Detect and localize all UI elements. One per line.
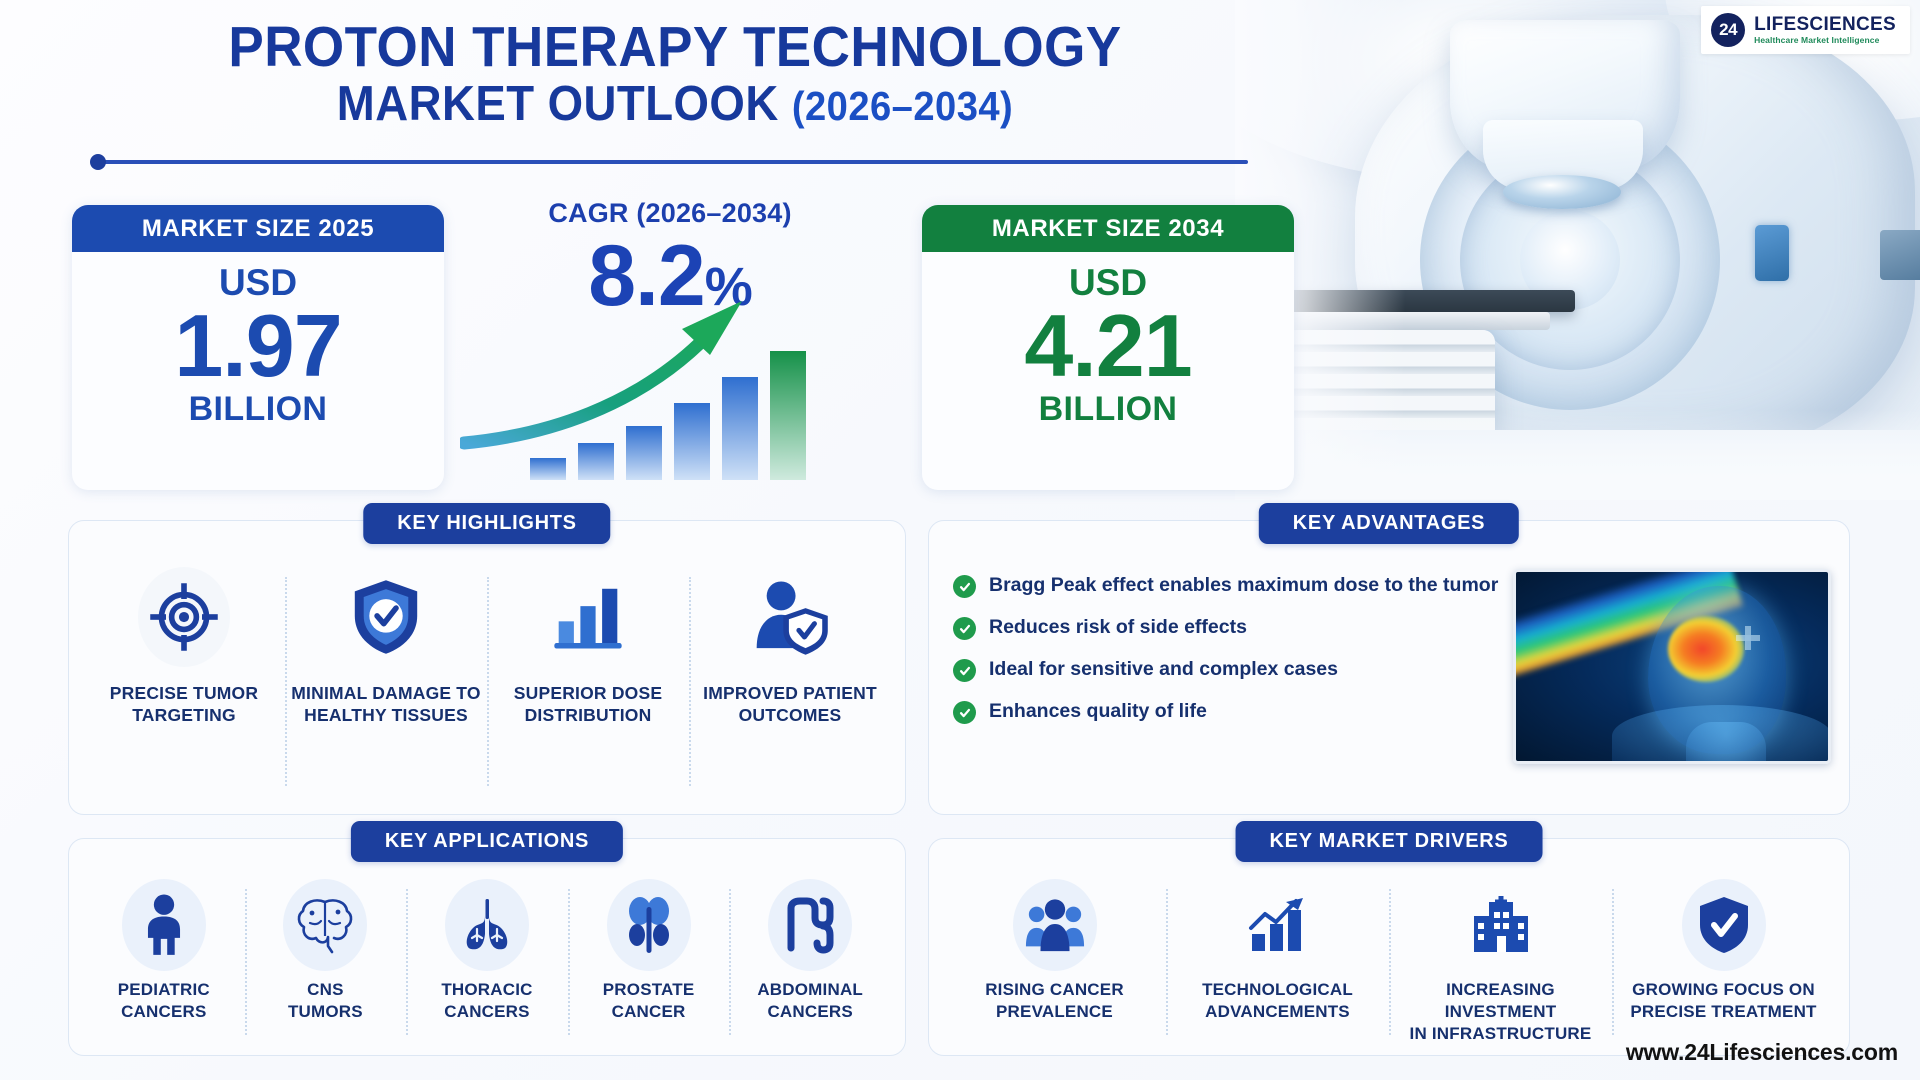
market-size-2034-card: MARKET SIZE 2034 USD 4.21 BILLION	[922, 205, 1294, 490]
child-icon	[138, 894, 190, 956]
people-group-icon	[1024, 897, 1086, 953]
logo-text: LIFESCIENCES Healthcare Market Intellige…	[1754, 15, 1896, 45]
cagr-bar-1	[530, 458, 566, 480]
title-line-2-years: (2026–2034)	[792, 83, 1013, 129]
driver-item-technological-advancements[interactable]: TECHNOLOGICALADVANCEMENTS	[1166, 879, 1389, 1045]
highlight-label: PRECISE TUMORTARGETING	[110, 682, 258, 727]
advantage-item[interactable]: Reduces risk of side effects	[953, 615, 1499, 640]
application-label: CNSTUMORS	[288, 979, 363, 1023]
driver-label: RISING CANCERPREVALENCE	[985, 979, 1124, 1023]
market-size-2025-body: USD 1.97 BILLION	[72, 252, 444, 430]
highlight-label: MINIMAL DAMAGE TOHEALTHY TISSUES	[291, 682, 480, 727]
title-line-2-main: MARKET OUTLOOK	[337, 77, 792, 131]
key-advantages-body: Bragg Peak effect enables maximum dose t…	[929, 521, 1849, 814]
key-highlights-grid: PRECISE TUMORTARGETING MINIMAL DAMAGE TO…	[69, 521, 905, 814]
cagr-bar-3	[626, 426, 662, 480]
wall-monitor	[1880, 230, 1920, 280]
advantage-text: Reduces risk of side effects	[989, 615, 1247, 640]
icon-backdrop	[768, 879, 852, 971]
highlight-item-superior-dose-distribution[interactable]: SUPERIOR DOSEDISTRIBUTION	[487, 563, 689, 800]
market-size-2034-unit: BILLION	[1039, 389, 1178, 430]
cagr-block: CAGR (2026–2034) 8.2%	[460, 198, 880, 490]
crosshair-icon	[1734, 624, 1762, 652]
logo-mark-icon: 24	[1711, 13, 1745, 47]
icon-slot	[445, 879, 529, 971]
icon-slot	[1013, 879, 1097, 971]
cagr-bar-2	[578, 443, 614, 480]
advantage-item[interactable]: Bragg Peak effect enables maximum dose t…	[953, 573, 1499, 598]
key-market-drivers-panel: KEY MARKET DRIVERS RISI	[928, 838, 1850, 1056]
colon-icon	[781, 896, 839, 954]
check-circle-icon	[953, 575, 976, 598]
application-label: PEDIATRICCANCERS	[118, 979, 210, 1023]
icon-slot	[283, 879, 367, 971]
market-size-2025-card: MARKET SIZE 2025 USD 1.97 BILLION	[72, 205, 444, 490]
market-size-2025-heading: MARKET SIZE 2025	[72, 205, 444, 252]
icon-slot	[607, 879, 691, 971]
cagr-label: CAGR (2026–2034)	[460, 198, 880, 229]
target-icon	[148, 581, 220, 653]
shoulders-silhouette	[1612, 705, 1831, 764]
driver-item-rising-cancer-prevalence[interactable]: RISING CANCERPREVALENCE	[943, 879, 1166, 1045]
application-item-pediatric-cancers[interactable]: PEDIATRICCANCERS	[83, 879, 245, 1045]
key-advantages-list: Bragg Peak effect enables maximum dose t…	[953, 567, 1499, 798]
market-size-2025-value: 1.97	[174, 303, 341, 389]
advantage-item[interactable]: Enhances quality of life	[953, 699, 1499, 724]
icon-backdrop	[138, 567, 230, 667]
icon-backdrop	[1682, 879, 1766, 971]
application-item-prostate-cancer[interactable]: PROSTATECANCER	[568, 879, 730, 1045]
icon-backdrop	[1013, 879, 1097, 971]
icon-backdrop	[607, 879, 691, 971]
growth-chart-icon	[1246, 896, 1310, 954]
driver-label: INCREASING INVESTMENTIN INFRASTRUCTURE	[1395, 979, 1606, 1044]
highlight-item-improved-patient-outcomes[interactable]: IMPROVED PATIENTOUTCOMES	[689, 563, 891, 800]
advantage-text: Ideal for sensitive and complex cases	[989, 657, 1338, 682]
market-size-2034-heading: MARKET SIZE 2034	[922, 205, 1294, 252]
key-highlights-title: KEY HIGHLIGHTS	[363, 503, 610, 544]
icon-slot	[122, 879, 206, 971]
key-applications-grid: PEDIATRICCANCERS	[69, 839, 905, 1055]
brain-icon	[295, 896, 355, 954]
shield-check-icon	[1697, 895, 1751, 955]
application-label: PROSTATECANCER	[603, 979, 695, 1023]
lungs-icon	[457, 896, 517, 954]
key-highlights-panel: KEY HIGHLIGHTS	[68, 520, 906, 815]
icon-slot	[750, 563, 830, 671]
title-line-1: PROTON THERAPY TECHNOLOGY	[154, 18, 1196, 77]
driver-label: GROWING FOCUS ONPRECISE TREATMENT	[1630, 979, 1816, 1023]
key-advantages-title: KEY ADVANTAGES	[1259, 503, 1519, 544]
driver-item-increasing-investment[interactable]: INCREASING INVESTMENTIN INFRASTRUCTURE	[1389, 879, 1612, 1045]
icon-slot	[768, 879, 852, 971]
icon-slot	[1682, 879, 1766, 971]
icon-backdrop	[1459, 879, 1543, 971]
shield-check-icon	[350, 578, 422, 656]
advantage-text: Enhances quality of life	[989, 699, 1207, 724]
brand-logo[interactable]: 24 LIFESCIENCES Healthcare Market Intell…	[1701, 6, 1910, 54]
advantage-text: Bragg Peak effect enables maximum dose t…	[989, 573, 1498, 598]
key-applications-title: KEY APPLICATIONS	[351, 821, 623, 862]
advantage-item[interactable]: Ideal for sensitive and complex cases	[953, 657, 1499, 682]
proton-beam-head-illustration	[1513, 569, 1831, 764]
prostate-icon	[622, 895, 676, 955]
title-line-2: MARKET OUTLOOK (2026–2034)	[154, 77, 1196, 132]
icon-backdrop	[283, 879, 367, 971]
page-title: PROTON THERAPY TECHNOLOGY MARKET OUTLOOK…	[115, 18, 1235, 132]
icon-backdrop	[122, 879, 206, 971]
title-divider	[98, 160, 1248, 164]
application-label: THORACICCANCERS	[441, 979, 532, 1023]
patient-shield-icon	[750, 579, 830, 655]
icon-slot	[1459, 879, 1543, 971]
footer-website-url[interactable]: www.24Lifesciences.com	[1626, 1039, 1898, 1066]
proton-therapy-machine-photo	[1235, 0, 1920, 500]
tumor-dose-hotspot	[1668, 616, 1744, 682]
cagr-bar-6	[770, 351, 806, 480]
market-size-2025-unit: BILLION	[189, 389, 328, 430]
icon-backdrop	[1236, 879, 1320, 971]
application-item-abdominal-cancers[interactable]: ABDOMINALCANCERS	[729, 879, 891, 1045]
key-market-drivers-grid: RISING CANCERPREVALENCE TECHNOLOGICA	[929, 839, 1849, 1055]
cagr-bar-5	[722, 377, 758, 480]
key-market-drivers-title: KEY MARKET DRIVERS	[1236, 821, 1543, 862]
highlight-item-minimal-damage[interactable]: MINIMAL DAMAGE TOHEALTHY TISSUES	[285, 563, 487, 800]
icon-slot	[138, 563, 230, 671]
hospital-icon	[1470, 896, 1532, 954]
icon-backdrop	[445, 879, 529, 971]
gantry-control-screen	[1755, 225, 1789, 281]
application-item-cns-tumors[interactable]: CNSTUMORS	[245, 879, 407, 1045]
driver-label: TECHNOLOGICALADVANCEMENTS	[1202, 979, 1353, 1023]
logo-tagline: Healthcare Market Intelligence	[1754, 36, 1896, 45]
cagr-growth-chart	[460, 293, 880, 488]
highlight-label: IMPROVED PATIENTOUTCOMES	[703, 682, 877, 727]
highlight-label: SUPERIOR DOSEDISTRIBUTION	[514, 682, 662, 727]
icon-slot	[1236, 879, 1320, 971]
check-circle-icon	[953, 701, 976, 724]
title-divider-dot	[90, 154, 106, 170]
infographic-page: 24 LIFESCIENCES Healthcare Market Intell…	[0, 0, 1920, 1080]
icon-slot	[550, 563, 626, 671]
driver-item-growing-focus-precise-treatment[interactable]: GROWING FOCUS ONPRECISE TREATMENT	[1612, 879, 1835, 1045]
check-circle-icon	[953, 659, 976, 682]
application-item-thoracic-cancers[interactable]: THORACICCANCERS	[406, 879, 568, 1045]
key-applications-panel: KEY APPLICATIONS PEDIATRICCANCERS	[68, 838, 906, 1056]
market-size-2034-body: USD 4.21 BILLION	[922, 252, 1294, 430]
nozzle-aperture	[1503, 175, 1621, 209]
application-label: ABDOMINALCANCERS	[757, 979, 863, 1023]
cagr-bar-4	[674, 403, 710, 480]
image-bottom-fade	[1235, 410, 1920, 500]
key-advantages-panel: KEY ADVANTAGES Bragg Peak effect enables…	[928, 520, 1850, 815]
check-circle-icon	[953, 617, 976, 640]
logo-name: LIFESCIENCES	[1754, 15, 1896, 34]
highlight-item-precise-tumor-targeting[interactable]: PRECISE TUMORTARGETING	[83, 563, 285, 800]
market-size-2034-value: 4.21	[1024, 303, 1191, 389]
icon-slot	[350, 563, 422, 671]
bar-chart-icon	[550, 582, 626, 652]
